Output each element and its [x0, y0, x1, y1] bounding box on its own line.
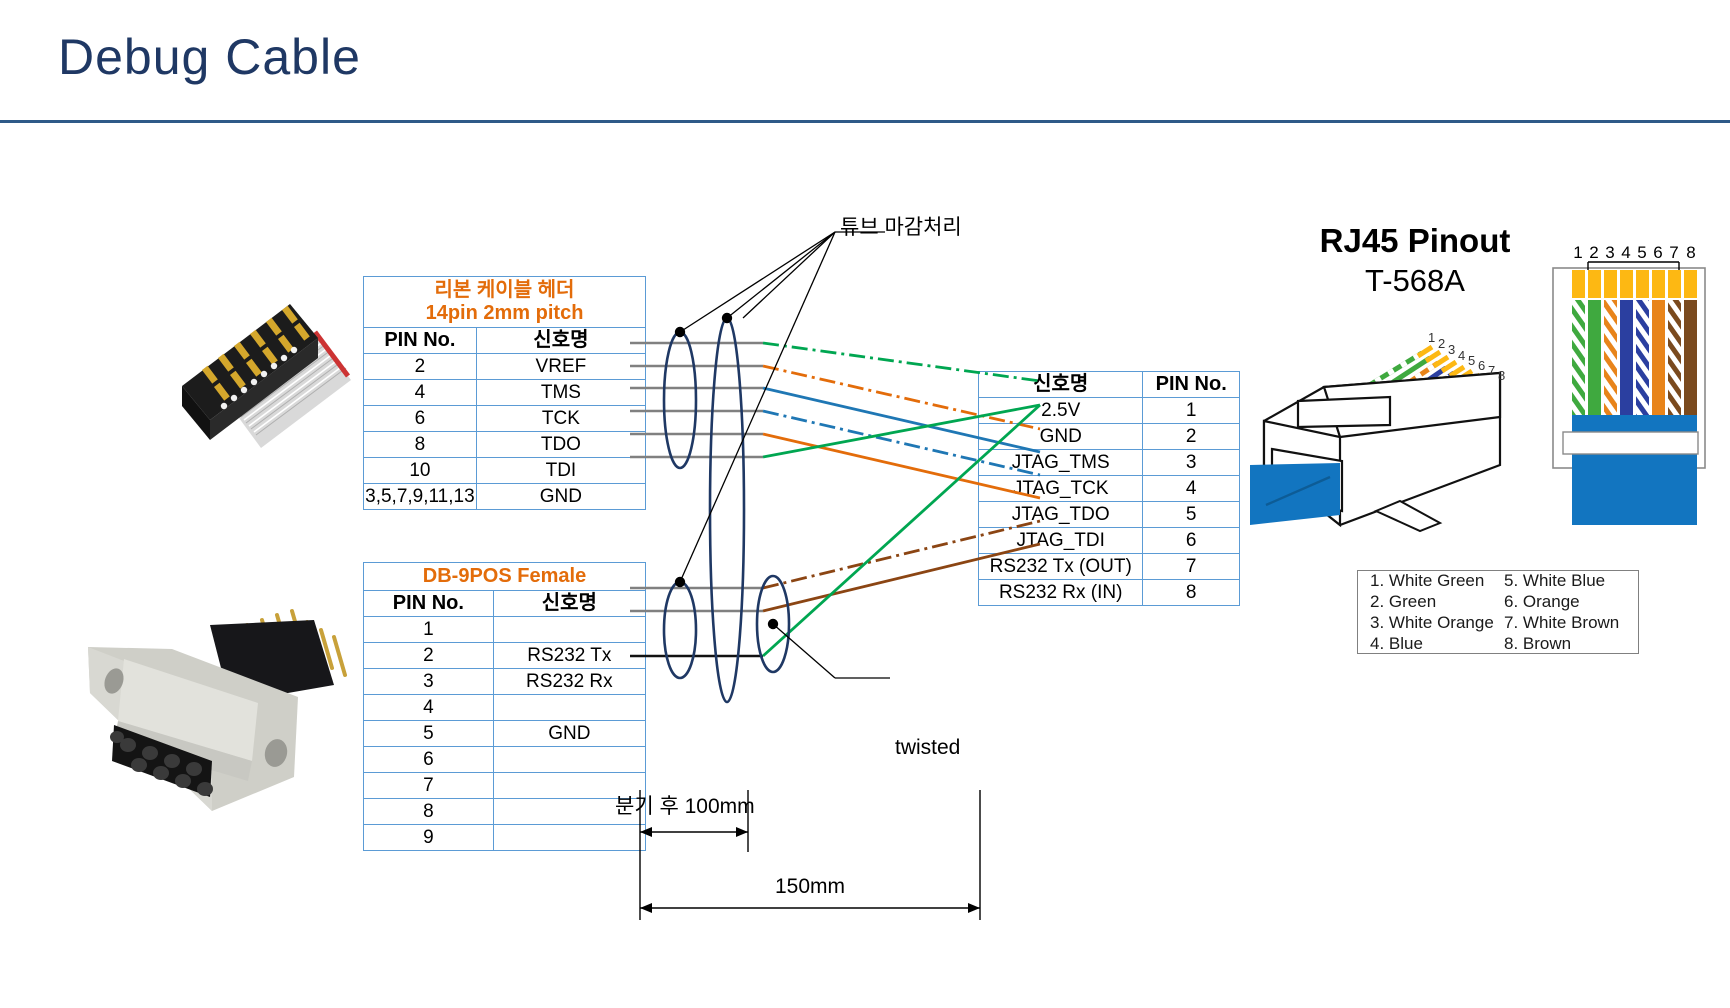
table-row: 2 VREF [364, 354, 646, 380]
table-row: 10 TDI [364, 458, 646, 484]
pin-number-8: 8 [1686, 243, 1695, 262]
pin-number-3: 3 [1605, 243, 1614, 262]
cell: 7 [1143, 554, 1240, 580]
legend-item: 1. White Green [1370, 570, 1504, 591]
rj45-wire-bars [1572, 300, 1697, 415]
db9-col-signal: 신호명 [493, 591, 645, 617]
db9-connector-photo [62, 585, 352, 845]
pin-number-6: 6 [1653, 243, 1662, 262]
plug-pin-number: 6 [1478, 358, 1485, 373]
wire-1-white-green [1572, 300, 1585, 415]
cell: 3 [364, 669, 494, 695]
table-title-row: DB-9POS Female [364, 563, 646, 591]
cell: 9 [364, 825, 494, 851]
table-row: 1 [364, 617, 646, 643]
cell: 6 [364, 406, 477, 432]
legend-item: 6. Orange [1504, 591, 1638, 612]
table-row: 2 RS232 Tx [364, 643, 646, 669]
db9-table-title: DB-9POS Female [364, 563, 646, 591]
plug-pin-number: 2 [1438, 336, 1445, 351]
legend-item: 8. Brown [1504, 633, 1638, 654]
rj45-col-pin: PIN No. [1143, 372, 1240, 398]
rj45-wire-order-diagram: 1 2 3 4 5 6 7 8 [1545, 240, 1730, 525]
table-row: 6 [364, 747, 646, 773]
cell: 4 [1143, 476, 1240, 502]
ribbon-table-title-line1: 리본 케이블 헤더 [364, 279, 645, 302]
plug-pin-number: 3 [1448, 342, 1455, 357]
cell: 1 [1143, 398, 1240, 424]
total-dimension-label: 150mm [775, 875, 845, 899]
cell: 8 [364, 799, 494, 825]
cell [493, 695, 645, 721]
wire-3-white-orange [1604, 300, 1617, 415]
cell: 6 [364, 747, 494, 773]
pin-number-4: 4 [1621, 243, 1630, 262]
tube-ellipse-db9 [664, 582, 696, 678]
db9-col-pin: PIN No. [364, 591, 494, 617]
cell: GND [493, 721, 645, 747]
legend-item: 3. White Orange [1370, 612, 1504, 633]
cell: 5 [1143, 502, 1240, 528]
pin-number-1: 1 [1573, 243, 1582, 262]
table-header-row: PIN No. 신호명 [364, 328, 646, 354]
table-header-row: PIN No. 신호명 [364, 591, 646, 617]
cell [493, 617, 645, 643]
tube-label: 튜브 마감처리 [840, 211, 962, 241]
wire-2-green [1588, 300, 1601, 415]
plug-pin-number: 1 [1428, 330, 1435, 345]
cell: 2 [1143, 424, 1240, 450]
pin-number-7: 7 [1669, 243, 1678, 262]
table-row: 6 TCK [364, 406, 646, 432]
ribbon-header-table: 리본 케이블 헤더 14pin 2mm pitch PIN No. 신호명 2 … [363, 276, 646, 510]
wire-4-blue [1620, 300, 1633, 415]
wire-5-white-blue [1636, 300, 1649, 415]
ribbon-table-title: 리본 케이블 헤더 14pin 2mm pitch [364, 277, 646, 328]
cell: TDI [476, 458, 645, 484]
cell: RS232 Tx [493, 643, 645, 669]
rj45-plug-illustration: 1 2 3 4 5 6 7 8 [1250, 325, 1520, 540]
cell: TCK [476, 406, 645, 432]
cell: 4 [364, 380, 477, 406]
legend-item: 5. White Blue [1504, 570, 1638, 591]
plug-pin-number: 5 [1468, 353, 1475, 368]
rj45-strain-relief [1563, 432, 1698, 454]
cell: TDO [476, 432, 645, 458]
legend-item: 2. Green [1370, 591, 1504, 612]
plug-pin-number: 7 [1488, 363, 1495, 378]
table-row: 5 GND [364, 721, 646, 747]
table-row: 3 RS232 Rx [364, 669, 646, 695]
wiring-diagram [630, 190, 1050, 710]
cell: VREF [476, 354, 645, 380]
twisted-label: twisted [895, 736, 960, 760]
plug-pin-number: 4 [1458, 348, 1465, 363]
ribbon-header-table-wrap: 리본 케이블 헤더 14pin 2mm pitch PIN No. 신호명 2 … [363, 276, 646, 510]
cell: 8 [364, 432, 477, 458]
cell: 5 [364, 721, 494, 747]
wire-8-brown [1684, 300, 1697, 415]
cell: 2 [364, 643, 494, 669]
ribbon-cable-header-photo [168, 288, 353, 473]
tube-markers [664, 318, 789, 702]
rj45-gold-contacts [1572, 270, 1697, 298]
ribbon-col-pin: PIN No. [364, 328, 477, 354]
page-title: Debug Cable [58, 28, 361, 86]
table-row: 4 [364, 695, 646, 721]
cell: 10 [364, 458, 477, 484]
rj45-standard-label: T-568A [1300, 263, 1530, 299]
branch-dimension-label: 분기 후 100mm [615, 790, 755, 820]
cell: 3 [1143, 450, 1240, 476]
tube-leader-dots [675, 313, 732, 587]
ribbon-table-title-line2: 14pin 2mm pitch [364, 302, 645, 325]
legend-item: 4. Blue [1370, 633, 1504, 654]
title-divider [0, 120, 1730, 123]
pin-number-2: 2 [1589, 243, 1598, 262]
cell: TMS [476, 380, 645, 406]
legend-item: 7. White Brown [1504, 612, 1638, 633]
cell: 3,5,7,9,11,13 [364, 484, 477, 510]
cell: 4 [364, 695, 494, 721]
table-row: 4 TMS [364, 380, 646, 406]
plug-pin-number: 8 [1498, 368, 1505, 383]
rj45-color-legend: 1. White Green 5. White Blue 2. Green 6.… [1357, 570, 1639, 654]
cell: RS232 Rx [493, 669, 645, 695]
cell: 6 [1143, 528, 1240, 554]
cell [493, 747, 645, 773]
tube-ellipse-ribbon [664, 332, 696, 468]
wire-6-orange [1652, 300, 1665, 415]
cell: 1 [364, 617, 494, 643]
table-row: 3,5,7,9,11,13 GND [364, 484, 646, 510]
rj45-pinout-title: RJ45 Pinout [1300, 222, 1530, 260]
cell: 2 [364, 354, 477, 380]
pin-number-5: 5 [1637, 243, 1646, 262]
ribbon-col-signal: 신호명 [476, 328, 645, 354]
table-row: 8 TDO [364, 432, 646, 458]
table-title-row: 리본 케이블 헤더 14pin 2mm pitch [364, 277, 646, 328]
tube-ellipse-main [710, 318, 744, 702]
wire-7-white-brown [1668, 300, 1681, 415]
cell: GND [476, 484, 645, 510]
cell: 8 [1143, 580, 1240, 606]
cell: 7 [364, 773, 494, 799]
wire-gnd-ribbon [763, 405, 1040, 457]
